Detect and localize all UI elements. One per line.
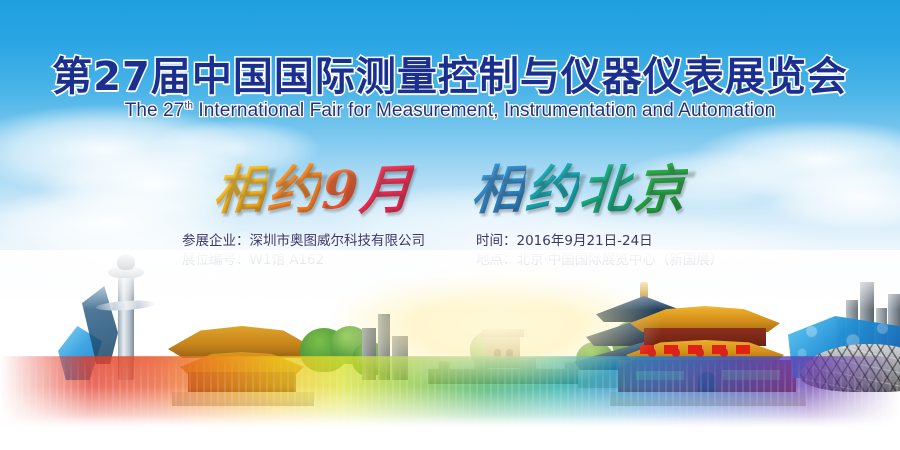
subtitle-rest: International Fair for Measurement, Inst… [193, 100, 775, 121]
calligraphy-char: 北 [576, 147, 635, 224]
subtitle-english: The 27th International Fair for Measurem… [0, 100, 900, 122]
calligraphy-char: 月 [356, 147, 415, 224]
great-wall-watchtower-roof [482, 329, 524, 337]
calligraphy-char: 9 [319, 159, 362, 221]
bottom-fade [0, 416, 900, 450]
main-title-chinese: 第27届中国国际测量控制与仪器仪表展览会 [0, 44, 900, 102]
haze-overlay [0, 250, 900, 310]
calligraphy-char: 约 [522, 147, 581, 224]
calligraphy-char: 约 [264, 147, 323, 224]
exhibitor-company-line: 参展企业：深圳市奥图威尔科技有限公司 [182, 232, 425, 251]
ordinal-suffix: th [184, 101, 193, 112]
calligraphy-char: 京 [630, 147, 689, 224]
calligraphy-spacer [413, 207, 471, 209]
calligraphy-char: 相 [210, 147, 269, 224]
event-date-line: 时间：2016年9月21日-24日 [476, 232, 723, 251]
calligraphy-char: 相 [468, 147, 527, 224]
red-flag-icon [736, 345, 750, 354]
calligraphy-slogan: 相约9月相约北京 [0, 148, 900, 223]
subtitle-prefix: The 27 [125, 100, 185, 121]
exhibition-banner: 第27届中国国际测量控制与仪器仪表展览会 The 27th Internatio… [0, 0, 900, 450]
